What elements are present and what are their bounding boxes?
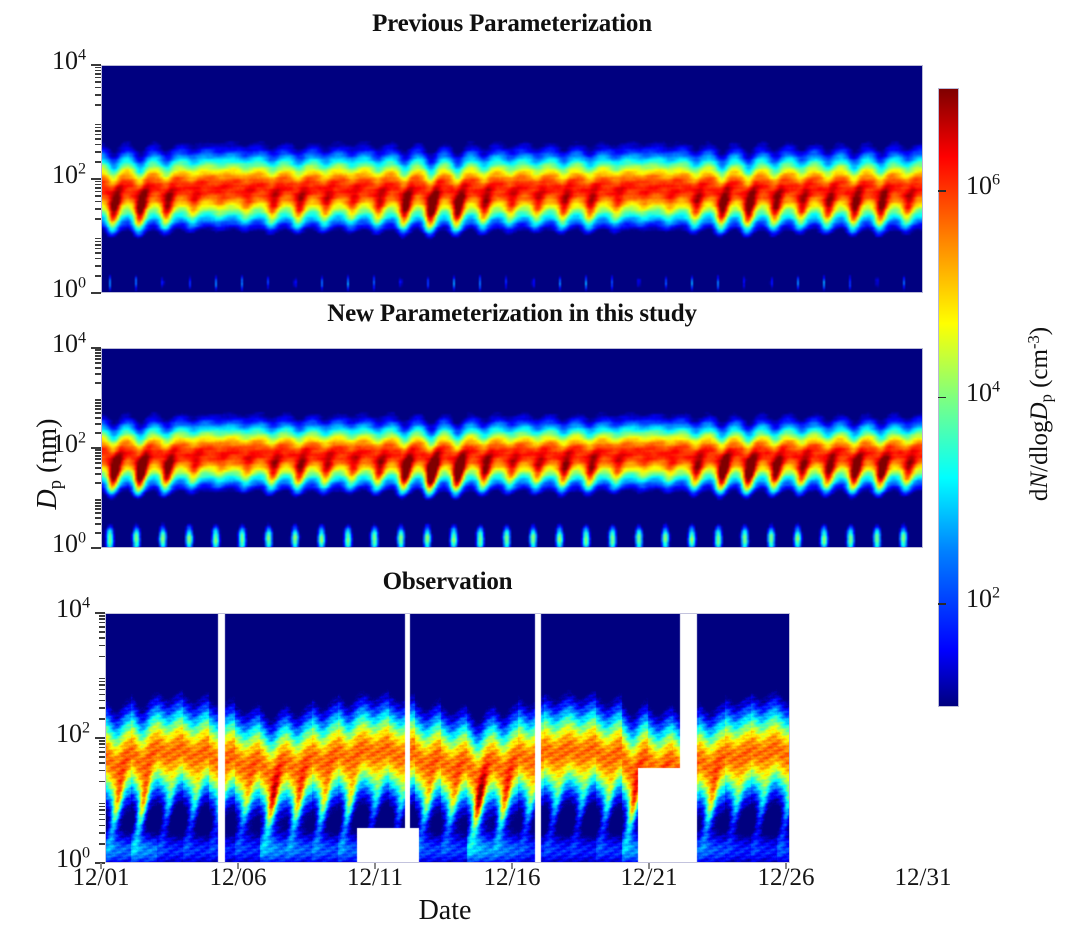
y-minor-tick — [95, 134, 101, 136]
y-minor-tick — [95, 402, 101, 404]
y-minor-tick — [95, 258, 101, 260]
y-minor-tick — [95, 412, 101, 414]
y-major-tick — [91, 547, 101, 549]
y-minor-tick — [95, 399, 101, 401]
y-minor-tick — [95, 138, 101, 140]
y-minor-tick — [95, 502, 101, 504]
y-minor-tick — [95, 70, 101, 72]
y-minor-tick — [99, 743, 105, 745]
y-minor-tick — [99, 751, 105, 753]
y-minor-tick — [99, 684, 105, 686]
y-minor-tick — [95, 252, 101, 254]
y-minor-tick — [99, 656, 105, 658]
y-minor-tick — [99, 707, 105, 709]
x-tick-mark — [374, 863, 376, 869]
y-minor-tick — [95, 241, 101, 243]
y-tick-label: 102 — [0, 719, 90, 749]
y-major-tick — [91, 447, 101, 449]
y-minor-tick — [95, 73, 101, 75]
y-minor-tick — [95, 87, 101, 89]
y-minor-tick — [95, 151, 101, 153]
x-tick-mark — [511, 863, 513, 869]
y-minor-tick — [95, 408, 101, 410]
colorbar-tick-label: 104 — [966, 378, 1000, 408]
y-minor-tick — [95, 417, 101, 419]
y-minor-tick — [95, 161, 101, 163]
heatmap-canvas-previous — [101, 65, 923, 293]
y-minor-tick — [99, 645, 105, 647]
y-minor-tick — [99, 762, 105, 764]
y-minor-tick — [95, 238, 101, 240]
y-minor-tick — [95, 452, 101, 454]
y-minor-tick — [95, 358, 101, 360]
y-major-tick — [91, 292, 101, 294]
y-minor-tick — [95, 355, 101, 357]
y-minor-tick — [95, 462, 101, 464]
y-minor-tick — [99, 637, 105, 639]
y-minor-tick — [95, 144, 101, 146]
y-minor-tick — [99, 806, 105, 808]
y-minor-tick — [95, 362, 101, 364]
y-tick-label: 104 — [0, 329, 86, 359]
y-minor-tick — [95, 458, 101, 460]
y-minor-tick — [95, 77, 101, 79]
heatmap-canvas-new — [101, 348, 923, 548]
y-minor-tick — [95, 349, 101, 351]
y-axis-title: Dp (nm) — [32, 374, 64, 554]
y-minor-tick — [95, 275, 101, 277]
y-major-tick — [95, 612, 105, 614]
panel-title-previous: Previous Parameterization — [101, 10, 923, 38]
y-minor-tick — [95, 67, 101, 69]
y-minor-tick — [95, 81, 101, 83]
y-minor-tick — [95, 195, 101, 197]
y-tick-label: 102 — [0, 160, 86, 190]
y-minor-tick — [95, 248, 101, 250]
y-minor-tick — [95, 505, 101, 507]
y-minor-tick — [99, 618, 105, 620]
y-minor-tick — [95, 208, 101, 210]
heatmap-panel-previous[interactable] — [101, 65, 923, 293]
y-minor-tick — [95, 352, 101, 354]
y-minor-tick — [99, 718, 105, 720]
y-major-tick — [91, 64, 101, 66]
colorbar-tick-label: 102 — [966, 584, 1000, 614]
y-major-tick — [91, 347, 101, 349]
colorbar-tick — [938, 190, 946, 192]
y-major-tick — [91, 178, 101, 180]
y-minor-tick — [95, 367, 101, 369]
y-minor-tick — [95, 181, 101, 183]
colorbar-tick — [938, 603, 946, 605]
y-minor-tick — [95, 373, 101, 375]
y-minor-tick — [99, 694, 105, 696]
y-minor-tick — [95, 184, 101, 186]
y-tick-label: 104 — [0, 46, 86, 76]
y-minor-tick — [95, 423, 101, 425]
heatmap-canvas-observation — [105, 613, 790, 863]
y-minor-tick — [99, 843, 105, 845]
colorbar-tick — [938, 397, 946, 399]
y-minor-tick — [99, 781, 105, 783]
y-minor-tick — [95, 94, 101, 96]
y-tick-label: 100 — [0, 274, 86, 304]
y-minor-tick — [99, 631, 105, 633]
y-minor-tick — [95, 532, 101, 534]
y-major-tick — [95, 737, 105, 739]
y-tick-label: 104 — [0, 594, 90, 624]
y-minor-tick — [99, 626, 105, 628]
y-minor-tick — [99, 689, 105, 691]
figure-canvas: Previous Parameterization New Parameteri… — [0, 0, 1080, 937]
y-minor-tick — [99, 832, 105, 834]
y-minor-tick — [95, 467, 101, 469]
y-minor-tick — [95, 201, 101, 203]
y-minor-tick — [95, 124, 101, 126]
y-minor-tick — [99, 803, 105, 805]
y-minor-tick — [95, 265, 101, 267]
y-minor-tick — [95, 218, 101, 220]
y-minor-tick — [99, 681, 105, 683]
y-minor-tick — [99, 747, 105, 749]
colorbar-title: dN/dlogDp (cm-3) — [1026, 249, 1054, 579]
y-minor-tick — [99, 825, 105, 827]
y-minor-tick — [95, 508, 101, 510]
heatmap-panel-observation[interactable] — [105, 613, 790, 863]
x-tick-mark — [237, 863, 239, 869]
panel-title-new: New Parameterization in this study — [101, 300, 923, 328]
x-tick-mark — [648, 863, 650, 869]
y-minor-tick — [95, 432, 101, 434]
y-minor-tick — [95, 523, 101, 525]
x-tick-label: 12/31 — [863, 864, 983, 892]
y-minor-tick — [95, 449, 101, 451]
y-minor-tick — [99, 700, 105, 702]
y-minor-tick — [95, 244, 101, 246]
x-tick-mark — [785, 863, 787, 869]
y-minor-tick — [95, 405, 101, 407]
y-minor-tick — [99, 819, 105, 821]
y-minor-tick — [95, 517, 101, 519]
y-minor-tick — [95, 512, 101, 514]
y-minor-tick — [95, 482, 101, 484]
y-minor-tick — [95, 191, 101, 193]
y-minor-tick — [99, 809, 105, 811]
y-minor-tick — [95, 499, 101, 501]
x-axis-title: Date — [0, 895, 890, 927]
y-minor-tick — [95, 455, 101, 457]
y-minor-tick — [99, 770, 105, 772]
heatmap-panel-new[interactable] — [101, 348, 923, 548]
y-minor-tick — [95, 187, 101, 189]
colorbar-tick-label: 106 — [966, 171, 1000, 201]
y-minor-tick — [95, 130, 101, 132]
panel-title-observation: Observation — [105, 568, 790, 596]
y-minor-tick — [95, 473, 101, 475]
y-minor-tick — [99, 756, 105, 758]
y-minor-tick — [99, 678, 105, 680]
y-minor-tick — [95, 382, 101, 384]
y-minor-tick — [99, 740, 105, 742]
y-minor-tick — [95, 104, 101, 106]
x-tick-mark — [100, 863, 102, 869]
y-minor-tick — [99, 615, 105, 617]
y-minor-tick — [95, 127, 101, 129]
y-minor-tick — [99, 622, 105, 624]
y-minor-tick — [99, 814, 105, 816]
